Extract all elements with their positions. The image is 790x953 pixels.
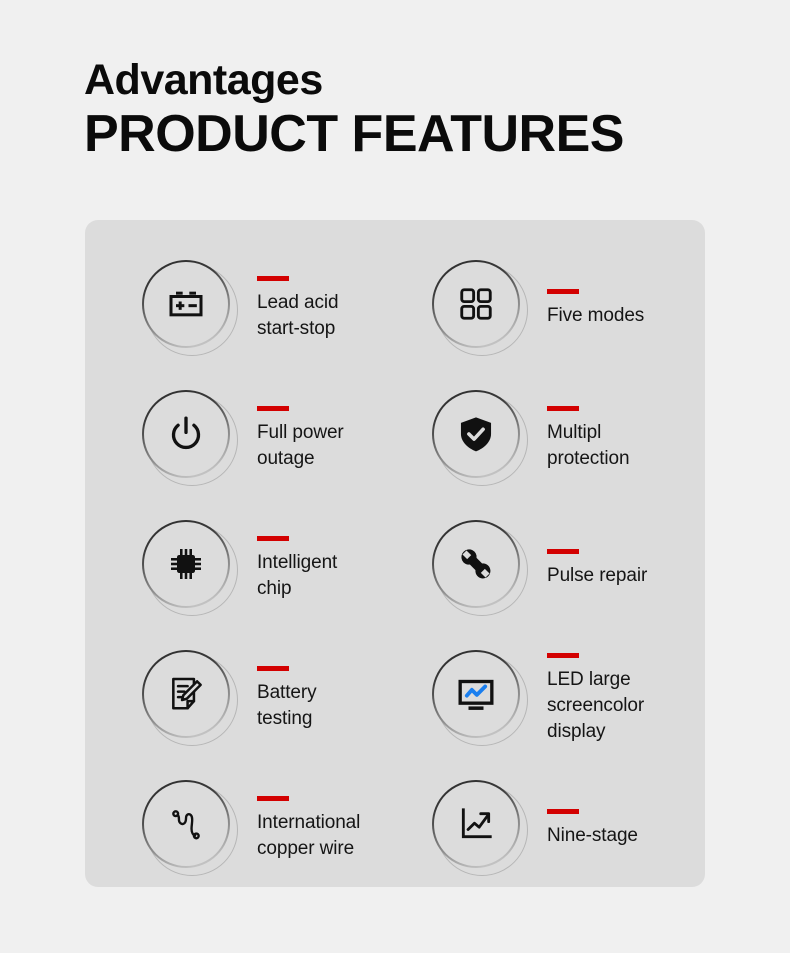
- feature-text: Nine-stage: [547, 809, 638, 849]
- feature-item[interactable]: International copper wire: [141, 764, 431, 894]
- feature-item[interactable]: LED large screencolor display: [431, 634, 721, 764]
- feature-item[interactable]: Battery testing: [141, 634, 431, 764]
- car-battery-icon: [142, 260, 230, 348]
- feature-icon-badge: [431, 779, 531, 879]
- accent-dash: [257, 536, 289, 541]
- accent-dash: [547, 289, 579, 294]
- grid-four-squares-icon: [432, 260, 520, 348]
- feature-icon-badge: [431, 259, 531, 359]
- feature-icon-badge: [141, 779, 241, 879]
- cpu-chip-icon: [142, 520, 230, 608]
- feature-item[interactable]: Intelligent chip: [141, 504, 431, 634]
- feature-icon-badge: [431, 649, 531, 749]
- feature-text: Battery testing: [257, 666, 317, 732]
- accent-dash: [547, 406, 579, 411]
- feature-text: Multipl protection: [547, 406, 629, 472]
- monitor-waveform-icon: [432, 650, 520, 738]
- feature-icon-badge: [141, 389, 241, 489]
- feature-label: Nine-stage: [547, 823, 638, 849]
- power-button-icon: [142, 390, 230, 478]
- feature-item[interactable]: Multipl protection: [431, 374, 721, 504]
- feature-label: Multipl protection: [547, 420, 629, 472]
- feature-label: Full power outage: [257, 420, 344, 472]
- accent-dash: [257, 276, 289, 281]
- feature-label: Pulse repair: [547, 563, 647, 589]
- feature-icon-badge: [431, 519, 531, 619]
- page-title: PRODUCT FEATURES: [84, 106, 724, 162]
- feature-icon-badge: [141, 519, 241, 619]
- copper-wire-icon: [142, 780, 230, 868]
- accent-dash: [547, 549, 579, 554]
- feature-text: LED large screencolor display: [547, 653, 644, 745]
- heading-eyebrow: Advantages: [84, 58, 724, 104]
- feature-item[interactable]: Nine-stage: [431, 764, 721, 894]
- feature-text: Pulse repair: [547, 549, 647, 589]
- page-heading: Advantages PRODUCT FEATURES: [84, 58, 724, 162]
- accent-dash: [257, 796, 289, 801]
- feature-label: Battery testing: [257, 680, 317, 732]
- feature-label: Lead acid start-stop: [257, 290, 339, 342]
- feature-icon-badge: [141, 649, 241, 749]
- feature-text: Full power outage: [257, 406, 344, 472]
- feature-text: International copper wire: [257, 796, 360, 862]
- accent-dash: [547, 809, 579, 814]
- accent-dash: [257, 666, 289, 671]
- feature-icon-badge: [141, 259, 241, 359]
- trend-up-chart-icon: [432, 780, 520, 868]
- feature-label: Intelligent chip: [257, 550, 337, 602]
- feature-text: Intelligent chip: [257, 536, 337, 602]
- feature-text: Lead acid start-stop: [257, 276, 339, 342]
- shield-check-icon: [432, 390, 520, 478]
- feature-label: LED large screencolor display: [547, 667, 644, 745]
- feature-item[interactable]: Lead acid start-stop: [141, 244, 431, 374]
- accent-dash: [547, 653, 579, 658]
- feature-text: Five modes: [547, 289, 644, 329]
- document-pencil-icon: [142, 650, 230, 738]
- accent-dash: [257, 406, 289, 411]
- feature-icon-badge: [431, 389, 531, 489]
- feature-label: International copper wire: [257, 810, 360, 862]
- feature-item[interactable]: Full power outage: [141, 374, 431, 504]
- wrench-icon: [432, 520, 520, 608]
- feature-item[interactable]: Five modes: [431, 244, 721, 374]
- feature-label: Five modes: [547, 303, 644, 329]
- feature-item[interactable]: Pulse repair: [431, 504, 721, 634]
- features-panel: Lead acid start-stop Five mod: [85, 220, 705, 887]
- features-grid: Lead acid start-stop Five mod: [141, 244, 705, 894]
